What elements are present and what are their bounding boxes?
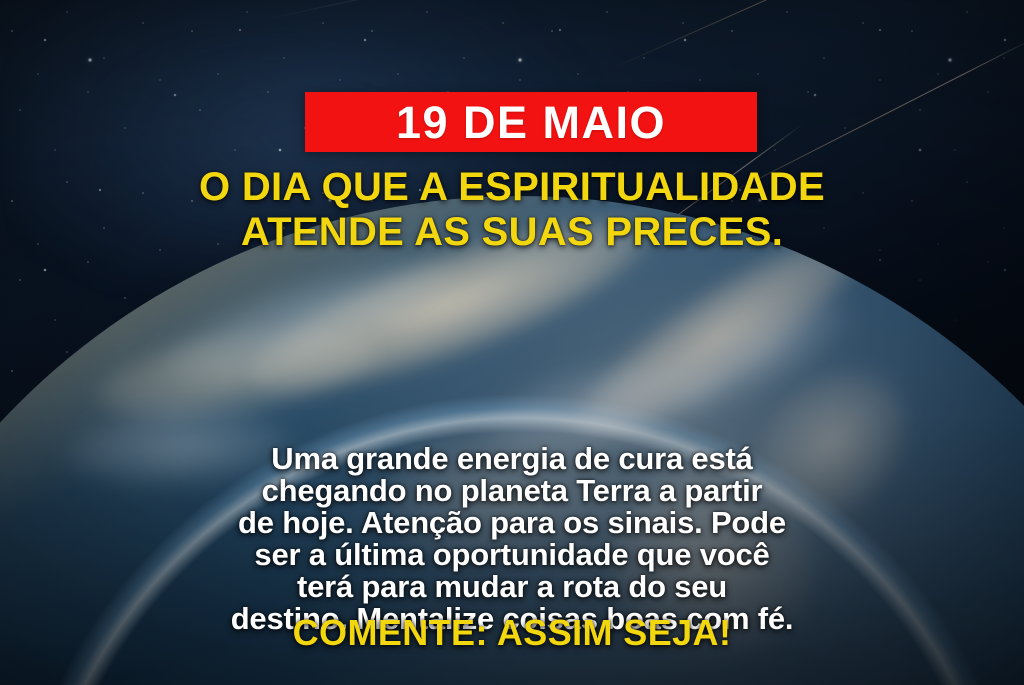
body-line-1: Uma grande energia de cura está — [28, 443, 996, 475]
date-banner-label: 19 DE MAIO — [396, 100, 666, 145]
date-banner: 19 DE MAIO — [305, 92, 757, 152]
call-to-action: COMENTE: ASSIM SEJA! — [0, 615, 1024, 651]
body-line-4: ser a última oportunidade que você — [28, 539, 996, 571]
headline-line-1: O DIA QUE A ESPIRITUALIDADE — [40, 165, 984, 210]
poster-content: 19 DE MAIO O DIA QUE A ESPIRITUALIDADE A… — [0, 0, 1024, 685]
body-line-2: chegando no planeta Terra a partir — [28, 475, 996, 507]
headline: O DIA QUE A ESPIRITUALIDADE ATENDE AS SU… — [0, 165, 1024, 255]
body-paragraph: Uma grande energia de cura está chegando… — [0, 443, 1024, 635]
headline-line-2: ATENDE AS SUAS PRECES. — [40, 210, 984, 255]
body-line-3: de hoje. Atenção para os sinais. Pode — [28, 507, 996, 539]
body-line-5: terá para mudar a rota do seu — [28, 571, 996, 603]
poster-canvas: 19 DE MAIO O DIA QUE A ESPIRITUALIDADE A… — [0, 0, 1024, 685]
